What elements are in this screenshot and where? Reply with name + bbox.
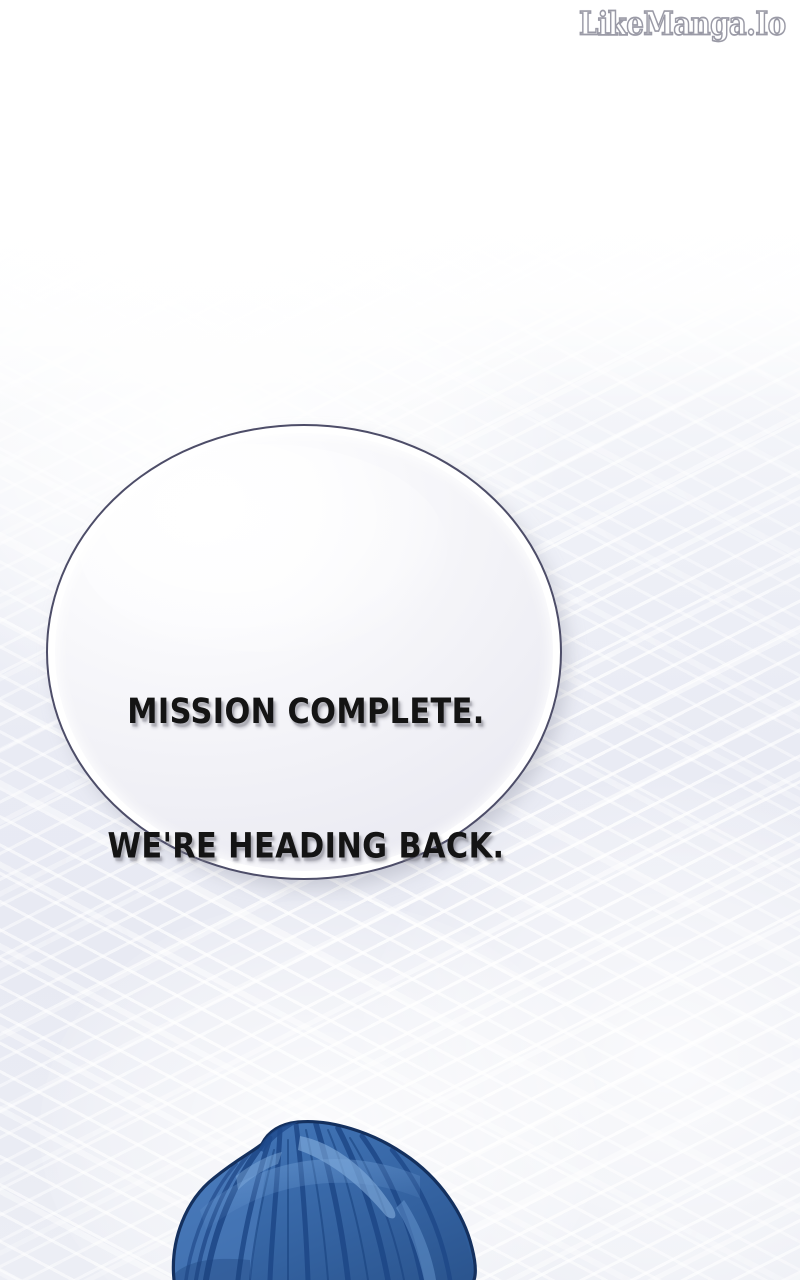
- dialogue-line-2: WE'RE HEADING BACK.: [51, 824, 561, 869]
- site-watermark: LikeManga.Io: [579, 6, 786, 43]
- dialogue-text: MISSION COMPLETE. WE'RE HEADING BACK.: [51, 600, 561, 958]
- comic-panel: LikeManga.Io MISSION COMPLETE. WE'RE HEA…: [0, 0, 800, 1280]
- dialogue-line-1: MISSION COMPLETE.: [51, 690, 561, 735]
